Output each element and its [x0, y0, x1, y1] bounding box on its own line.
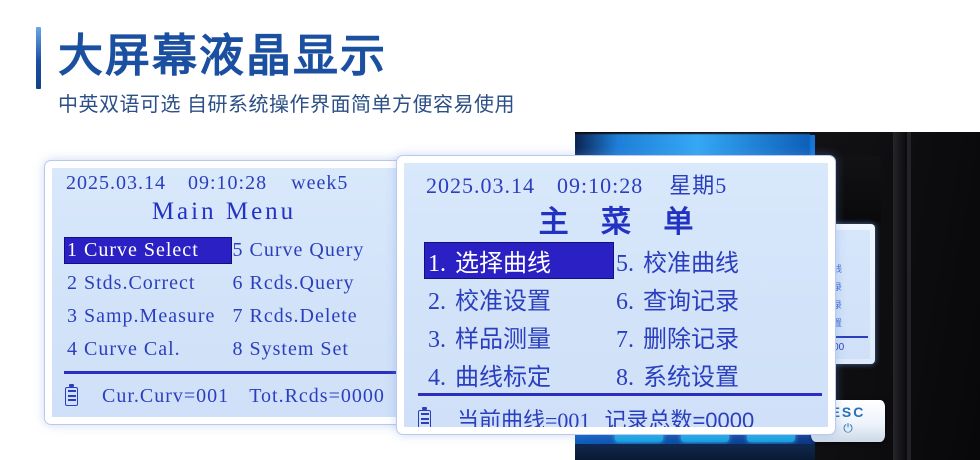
lcd-chinese-surface: 2025.03.14 09:10:28 星期5 主 菜 单 1.选择曲线 5.校…	[404, 163, 828, 427]
menu-index: 3.	[428, 327, 446, 353]
menu-item-stds-correct[interactable]: 2 Stds.Correct	[65, 271, 231, 296]
menu-row: 4 Curve Cal. 8 System Set	[52, 333, 396, 366]
lcd-chinese-total-records: 记录总数=0000	[604, 403, 754, 427]
battery-icon	[418, 410, 431, 428]
menu-label: 校准曲线	[643, 250, 739, 277]
lcd-english-title: Main Menu	[52, 198, 396, 226]
menu-label: 样品测量	[455, 326, 551, 353]
lcd-english-date: 2025.03.14	[66, 172, 166, 195]
page-subtitle: 中英双语可选 自研系统操作界面简单方便容易使用	[58, 88, 515, 117]
lcd-chinese-statusline: 2025.03.14 09:10:28 星期5	[404, 168, 828, 200]
device-right-edge	[893, 132, 907, 460]
lcd-english-statusline: 2025.03.14 09:10:28 week5	[52, 172, 396, 195]
menu-item-delete-records[interactable]: 7.删除记录	[613, 319, 801, 354]
lcd-chinese-weekday: 星期5	[669, 168, 727, 200]
lcd-screen-english: 2025.03.14 09:10:28 week5 Main Menu 1 Cu…	[44, 160, 404, 425]
lcd-english-current-curve: Cur.Curv=001	[102, 385, 229, 408]
lcd-chinese-date: 2025.03.14	[426, 173, 535, 199]
device-top-glow-strip	[575, 134, 810, 156]
lcd-chinese-current-curve: 当前曲线=001	[457, 403, 590, 427]
menu-index: 1.	[428, 251, 446, 277]
menu-index: 7.	[616, 327, 634, 353]
menu-row: 2 Stds.Correct 6 Rcds.Query	[52, 267, 396, 300]
header-accent-bar	[36, 27, 41, 89]
lcd-english-menu: 1 Curve Select 5 Curve Query 2 Stds.Corr…	[52, 234, 396, 366]
lcd-chinese-time: 09:10:28	[557, 173, 643, 199]
lcd-screen-chinese: 2025.03.14 09:10:28 星期5 主 菜 单 1.选择曲线 5.校…	[396, 155, 836, 435]
lcd-english-weekday: week5	[291, 172, 348, 195]
total-records-value: =0000	[692, 408, 754, 427]
battery-icon	[65, 387, 78, 406]
current-curve-value: =001	[545, 408, 590, 427]
page-title: 大屏幕液晶显示	[58, 25, 387, 87]
menu-label: 曲线标定	[455, 364, 551, 391]
menu-label: 校准设置	[455, 288, 551, 315]
screenshot-root: 大屏幕液晶显示 中英双语可选 自研系统操作界面简单方便容易使用 测定仪 曲线 记…	[0, 0, 980, 460]
menu-row: 1 Curve Select 5 Curve Query	[52, 234, 396, 267]
menu-row: 1.选择曲线 5.校准曲线	[404, 241, 828, 279]
lcd-english-time: 09:10:28	[188, 172, 267, 195]
menu-item-curve-select[interactable]: 1 Curve Select	[65, 238, 231, 263]
lcd-english-surface: 2025.03.14 09:10:28 week5 Main Menu 1 Cu…	[52, 168, 396, 417]
menu-row: 4.曲线标定 8.系统设置	[404, 355, 828, 393]
menu-item-query-records[interactable]: 6.查询记录	[613, 281, 801, 316]
menu-item-system-settings[interactable]: 8.系统设置	[613, 357, 801, 392]
menu-item-rcds-query[interactable]: 6 Rcds.Query	[231, 271, 397, 296]
current-curve-label: 当前曲线	[457, 408, 545, 427]
menu-row: 2.校准设置 6.查询记录	[404, 279, 828, 317]
menu-index: 2.	[428, 289, 446, 315]
menu-index: 6.	[616, 289, 634, 315]
lcd-chinese-menu: 1.选择曲线 5.校准曲线 2.校准设置 6.查询记录 3.样品测量 7.删除记…	[404, 241, 828, 393]
menu-row: 3.样品测量 7.删除记录	[404, 317, 828, 355]
menu-item-samp-measure[interactable]: 3 Samp.Measure	[65, 304, 231, 329]
menu-item-select-curve[interactable]: 1.选择曲线	[425, 243, 613, 278]
lcd-english-total-records: Tot.Rcds=0000	[249, 385, 385, 408]
device-lower-bar	[575, 444, 815, 460]
lcd-chinese-title: 主 菜 单	[404, 197, 828, 241]
menu-index: 5.	[616, 251, 634, 277]
menu-item-calib-settings[interactable]: 2.校准设置	[425, 281, 613, 316]
lcd-chinese-footer: 当前曲线=001 记录总数=0000	[404, 401, 828, 427]
menu-label: 删除记录	[643, 326, 739, 353]
menu-row: 3 Samp.Measure 7 Rcds.Delete	[52, 300, 396, 333]
menu-label: 选择曲线	[455, 250, 551, 277]
menu-item-system-set[interactable]: 8 System Set	[231, 337, 397, 362]
menu-label: 系统设置	[643, 364, 739, 391]
menu-item-curve-cal[interactable]: 4 Curve Cal.	[65, 337, 231, 362]
menu-index: 8.	[616, 365, 634, 391]
header: 大屏幕液晶显示 中英双语可选 自研系统操作界面简单方便容易使用	[0, 0, 980, 130]
lcd-chinese-divider	[418, 393, 822, 396]
menu-item-rcds-delete[interactable]: 7 Rcds.Delete	[231, 304, 397, 329]
menu-item-curve-calibrate[interactable]: 4.曲线标定	[425, 357, 613, 392]
menu-item-sample-measure[interactable]: 3.样品测量	[425, 319, 613, 354]
menu-item-calib-curve[interactable]: 5.校准曲线	[613, 243, 801, 278]
menu-index: 4.	[428, 365, 446, 391]
menu-item-curve-query[interactable]: 5 Curve Query	[231, 238, 397, 263]
device-right-edge-highlight	[907, 132, 911, 460]
menu-label: 查询记录	[643, 288, 739, 315]
total-records-label: 记录总数	[604, 408, 692, 427]
lcd-english-divider	[64, 371, 396, 374]
lcd-english-footer: Cur.Curv=001 Tot.Rcds=0000	[52, 379, 396, 413]
